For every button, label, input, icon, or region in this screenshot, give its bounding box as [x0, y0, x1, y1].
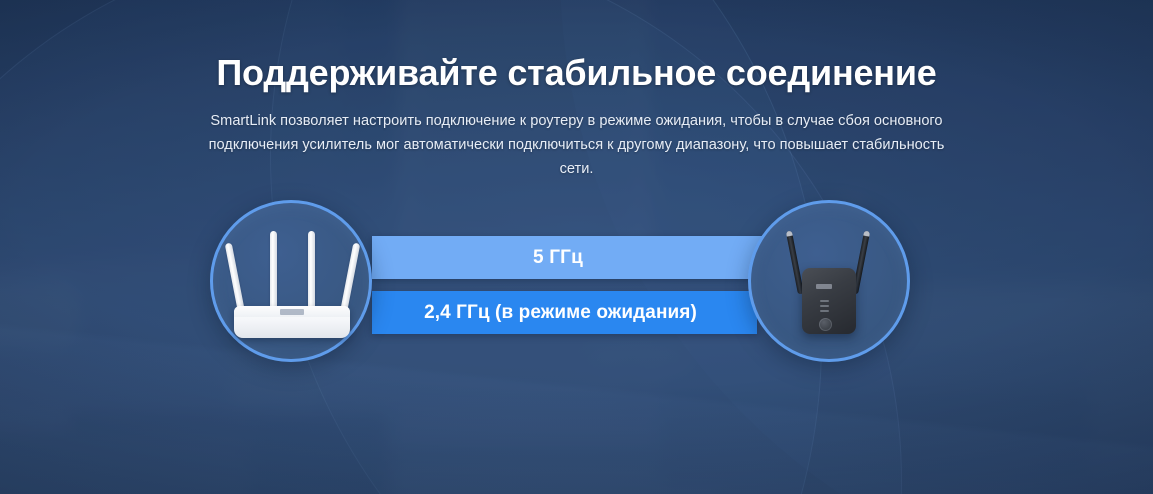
band-bar-5ghz: 5 ГГц: [372, 236, 772, 279]
extender-button: [819, 318, 832, 331]
wifi-range-extender-icon: [790, 228, 870, 336]
wifi-router-icon: [232, 226, 352, 338]
smartlink-promo-banner: Поддерживайте стабильное соединение Smar…: [0, 0, 1153, 494]
extender-led-indicators: [820, 300, 829, 315]
band-bar-24ghz: 2,4 ГГц (в режиме ожидания): [372, 291, 757, 334]
router-antenna-3: [308, 231, 315, 311]
band-label-24ghz: 2,4 ГГц (в режиме ожидания): [424, 302, 697, 324]
router-antenna-2: [270, 231, 277, 311]
router-logo: [280, 309, 304, 315]
connection-diagram: 5 ГГц 2,4 ГГц (в режиме ожидания): [0, 0, 1153, 494]
extender-logo: [816, 284, 832, 289]
band-label-5ghz: 5 ГГц: [533, 247, 583, 269]
